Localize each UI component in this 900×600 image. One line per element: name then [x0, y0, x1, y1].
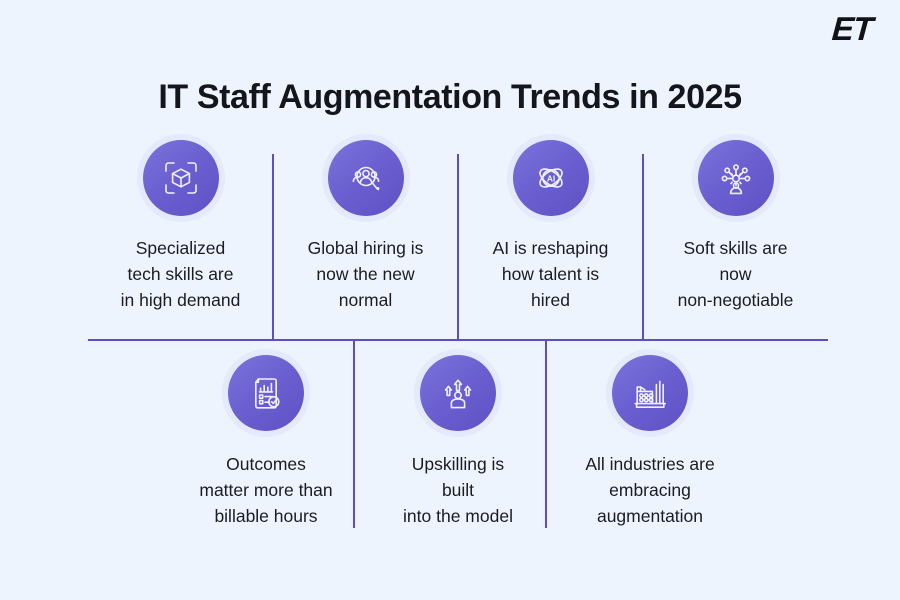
- people-search-icon: [328, 140, 404, 216]
- trend-card-upskilling: Upskilling is built into the model: [362, 355, 554, 530]
- person-skill-network-icon: [698, 140, 774, 216]
- report-check-icon: [228, 355, 304, 431]
- infographic-canvas: ET IT Staff Augmentation Trends in 2025 …: [0, 0, 900, 600]
- trend-card-global-hiring: Global hiring is now the new normal: [273, 140, 458, 314]
- brand-logo: ET: [831, 12, 873, 45]
- trend-caption: Outcomes matter more than billable hours: [199, 452, 332, 530]
- trend-card-outcomes: Outcomes matter more than billable hours: [170, 355, 362, 530]
- bottom-row: Outcomes matter more than billable hours…: [170, 355, 746, 530]
- horizontal-divider: [88, 339, 828, 341]
- top-row: Specialized tech skills are in high dema…: [88, 140, 828, 314]
- trend-card-ai-reshaping: AI AI is reshaping how talent is hired: [458, 140, 643, 314]
- trend-caption: Soft skills are now non-negotiable: [678, 236, 794, 314]
- trend-caption: Upskilling is built into the model: [403, 452, 513, 530]
- trend-caption: Global hiring is now the new normal: [308, 236, 424, 314]
- trend-card-all-industries: All industries are embracing augmentatio…: [554, 355, 746, 530]
- trend-caption: All industries are embracing augmentatio…: [585, 452, 714, 530]
- trend-card-specialized-tech-skills: Specialized tech skills are in high dema…: [88, 140, 273, 314]
- trend-caption: AI is reshaping how talent is hired: [493, 236, 609, 314]
- person-arrows-up-icon: [420, 355, 496, 431]
- trend-card-soft-skills: Soft skills are now non-negotiable: [643, 140, 828, 314]
- page-title: IT Staff Augmentation Trends in 2025: [0, 78, 900, 117]
- ai-atom-icon: AI: [513, 140, 589, 216]
- trend-caption: Specialized tech skills are in high dema…: [121, 236, 241, 314]
- factory-icon: [612, 355, 688, 431]
- svg-text:AI: AI: [546, 174, 554, 184]
- cube-scan-icon: [143, 140, 219, 216]
